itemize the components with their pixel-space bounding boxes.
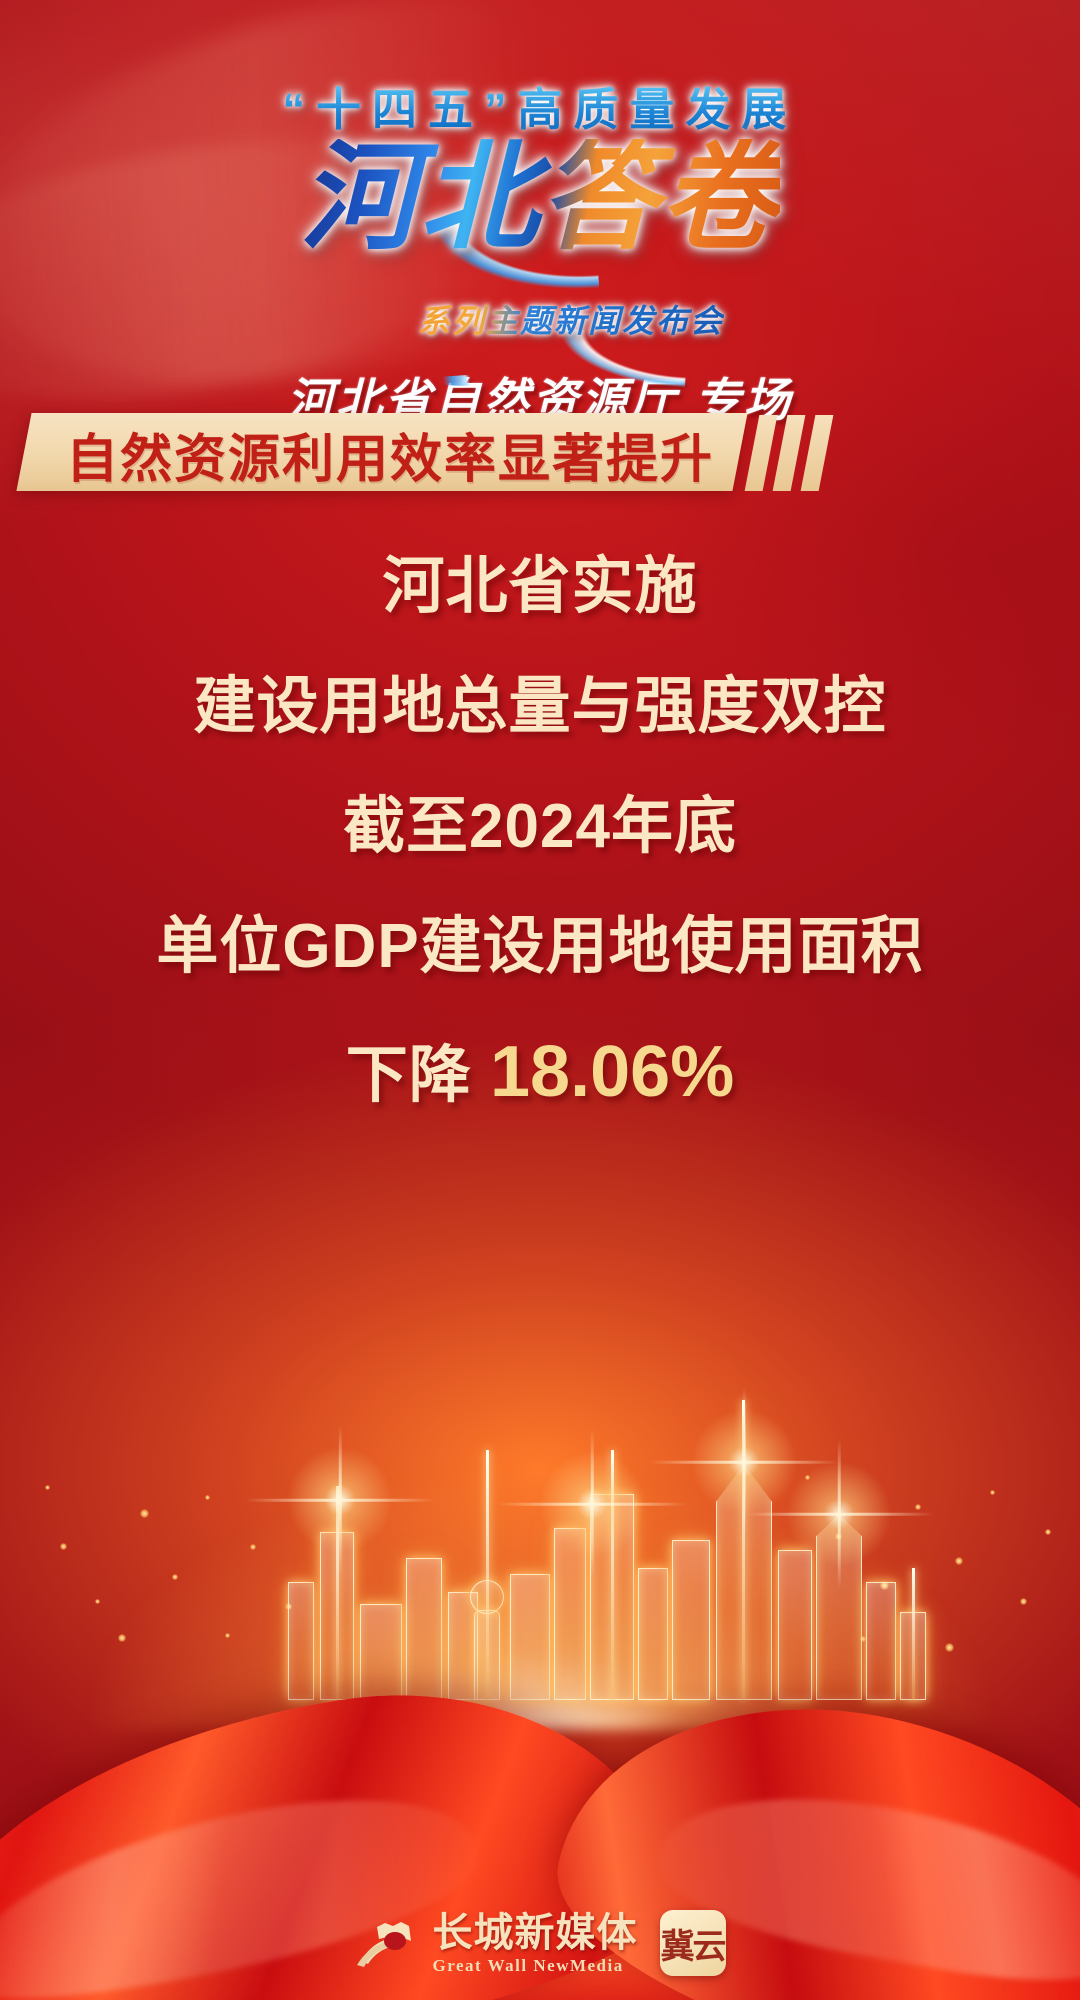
light-flare: [779, 1454, 899, 1574]
great-wall-logo[interactable]: 长城新媒体 Great Wall NewMedia: [355, 1913, 638, 1974]
building: [406, 1558, 442, 1700]
body-line-4: 单位GDP建设用地使用面积: [0, 916, 1080, 978]
poster-footer: 长城新媒体 Great Wall NewMedia 冀云: [0, 1910, 1080, 1976]
body-line-3: 截至2024年底: [0, 796, 1080, 858]
body-line-2: 建设用地总量与强度双控: [0, 676, 1080, 738]
decline-label: 下降: [346, 1041, 472, 1110]
building: [510, 1574, 550, 1700]
building: [900, 1612, 926, 1700]
building: [448, 1592, 478, 1700]
building: [672, 1540, 710, 1700]
logo-subtitle: 系列主题新闻发布会: [356, 296, 724, 342]
banner-title: 自然资源利用效率显著提升: [66, 423, 756, 485]
great-wall-mark-icon: [355, 1917, 421, 1969]
header-kicker: “十四五”高质量发展: [282, 86, 797, 133]
decline-value: 18.06%: [490, 1032, 734, 1112]
section-banner: 自然资源利用效率显著提升: [0, 407, 1080, 517]
building: [288, 1582, 314, 1700]
body-line-final: 下降 18.06%: [0, 1036, 1080, 1108]
building-hero-tower: [716, 1464, 772, 1700]
building: [866, 1582, 896, 1700]
brand-name-cn: 长城新媒体: [433, 1913, 638, 1953]
great-wall-text: 长城新媒体 Great Wall NewMedia: [433, 1913, 638, 1974]
light-flare: [280, 1440, 400, 1560]
building-spire: [912, 1568, 915, 1700]
building: [360, 1604, 402, 1700]
poster-canvas: “十四五”高质量发展 河北答卷 系列主题新闻发布会 河北省自然资源厅 专场 自然…: [0, 0, 1080, 2000]
banner-slash-3-icon: [801, 415, 834, 491]
body-text-block: 河北省实施 建设用地总量与强度双控 截至2024年底 单位GDP建设用地使用面积…: [0, 556, 1080, 1108]
body-line-1: 河北省实施: [0, 556, 1080, 618]
jiyun-badge[interactable]: 冀云: [660, 1910, 726, 1976]
logo-lockup: 河北答卷: [0, 139, 1080, 319]
banner-slash-2-icon: [773, 415, 806, 491]
building: [320, 1532, 354, 1700]
skyline-glow: [90, 1470, 990, 1730]
building-spire: [611, 1450, 614, 1700]
building: [590, 1494, 634, 1700]
building-tv-tower-base: [474, 1610, 500, 1700]
building-tv-tower-sphere: [470, 1580, 504, 1614]
jiyun-badge-label: 冀云: [661, 1919, 725, 1968]
brand-name-en: Great Wall NewMedia: [433, 1957, 624, 1974]
sparkle-particles: [0, 1370, 1080, 1700]
logo-main-title: 河北答卷: [300, 139, 780, 257]
hero-tower-spire: [742, 1400, 745, 1700]
building: [778, 1550, 812, 1700]
building-spire: [336, 1486, 339, 1700]
building: [638, 1568, 668, 1700]
building: [554, 1528, 586, 1700]
light-flare: [532, 1444, 652, 1564]
tv-tower-spire: [486, 1450, 489, 1700]
building: [816, 1514, 862, 1700]
city-skyline-graphic: [0, 1370, 1080, 1700]
light-flare: [684, 1402, 804, 1522]
poster-header: “十四五”高质量发展 河北答卷 系列主题新闻发布会 河北省自然资源厅 专场: [0, 0, 1080, 430]
